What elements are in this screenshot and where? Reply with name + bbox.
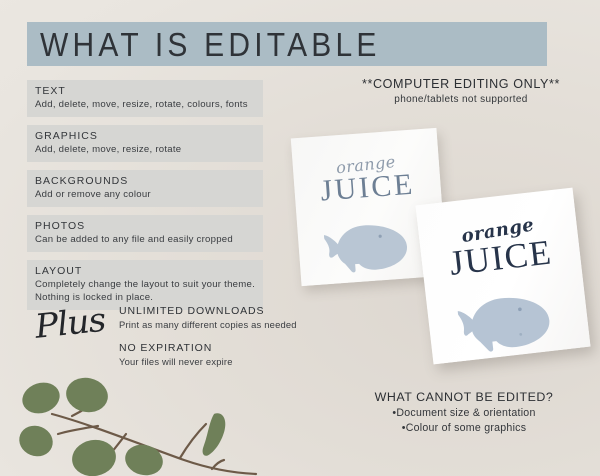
feature-description: Completely change the layout to suit you… bbox=[35, 278, 255, 291]
eucalyptus-branch-decoration bbox=[0, 368, 294, 476]
feature-strip-graphics: GRAPHICS Add, delete, move, resize, rota… bbox=[27, 125, 263, 162]
feature-description-line2: Nothing is locked in place. bbox=[35, 291, 255, 304]
feature-strip-text: TEXT Add, delete, move, resize, rotate, … bbox=[27, 80, 263, 117]
feature-title: GRAPHICS bbox=[35, 130, 255, 143]
feature-title: TEXT bbox=[35, 85, 255, 98]
plus-script-label: Plus bbox=[33, 300, 107, 346]
cannot-be-edited-note: WHAT CANNOT BE EDITED? •Document size & … bbox=[344, 389, 584, 436]
editable-features-list: TEXT Add, delete, move, resize, rotate, … bbox=[27, 80, 263, 318]
feature-title: LAYOUT bbox=[35, 265, 255, 278]
feature-description: Add, delete, move, resize, rotate bbox=[35, 143, 255, 156]
feature-description: Add, delete, move, resize, rotate, colou… bbox=[35, 98, 255, 111]
plus-item-description: Print as many different copies as needed bbox=[119, 318, 319, 331]
cannot-be-edited-item: •Colour of some graphics bbox=[344, 421, 584, 436]
computer-editing-headline: **COMPUTER EDITING ONLY** bbox=[336, 76, 586, 92]
feature-description: Can be added to any file and easily crop… bbox=[35, 233, 255, 246]
computer-editing-subtext: phone/tablets not supported bbox=[336, 92, 586, 107]
plus-item-description: Your files will never expire bbox=[119, 355, 319, 368]
feature-title: PHOTOS bbox=[35, 220, 255, 233]
orange-juice-card-front: orange JUICE bbox=[415, 188, 590, 365]
page-title: WHAT IS EDITABLE bbox=[40, 27, 381, 65]
plus-item-expiration: NO EXPIRATION Your files will never expi… bbox=[119, 342, 319, 368]
whale-icon bbox=[456, 286, 566, 359]
feature-title: BACKGROUNDS bbox=[35, 175, 255, 188]
branch-leaves bbox=[15, 374, 227, 476]
cannot-be-edited-title: WHAT CANNOT BE EDITED? bbox=[344, 389, 584, 406]
plus-item-title: UNLIMITED DOWNLOADS bbox=[119, 305, 319, 318]
feature-strip-backgrounds: BACKGROUNDS Add or remove any colour bbox=[27, 170, 263, 207]
feature-description: Add or remove any colour bbox=[35, 188, 255, 201]
plus-item-title: NO EXPIRATION bbox=[119, 342, 319, 355]
cannot-be-edited-item: •Document size & orientation bbox=[344, 406, 584, 421]
editable-info-sheet: WHAT IS EDITABLE TEXT Add, delete, move,… bbox=[0, 0, 600, 476]
plus-item-downloads: UNLIMITED DOWNLOADS Print as many differ… bbox=[119, 305, 319, 331]
card-content: orange JUICE bbox=[415, 188, 590, 365]
computer-editing-note: **COMPUTER EDITING ONLY** phone/tablets … bbox=[336, 76, 586, 107]
whale-icon bbox=[323, 215, 423, 278]
feature-strip-layout: LAYOUT Completely change the layout to s… bbox=[27, 260, 263, 310]
feature-strip-photos: PHOTOS Can be added to any file and easi… bbox=[27, 215, 263, 252]
